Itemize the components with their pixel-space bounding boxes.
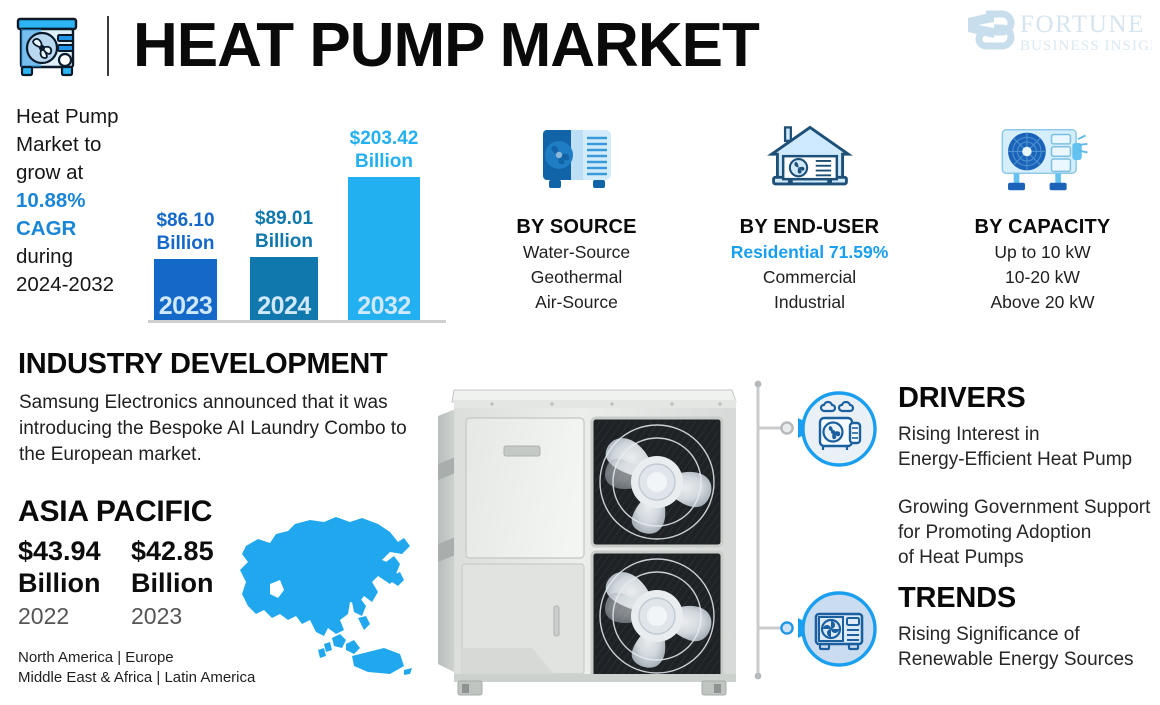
segment-item-air-source: Air-Source — [460, 291, 693, 314]
bar-year-label-2032: 2032 — [348, 292, 420, 321]
cagr-value: 10.88% — [16, 189, 86, 212]
bar-value-label-2032: $203.42 Billion — [334, 127, 434, 177]
bar-2024: $89.01 Billion 2024 — [250, 257, 318, 320]
heat-pump-steam-icon — [800, 390, 878, 468]
ap-unit-2023: Billion — [131, 567, 214, 599]
fortune-business-insights-logo: FORTUNE BUSINESS INSIGHTS — [964, 8, 1152, 60]
industry-development-title: INDUSTRY DEVELOPMENT — [18, 348, 387, 381]
bar-year-label-2024: 2024 — [250, 292, 318, 321]
segment-item-up-to-10kw: Up to 10 kW — [926, 241, 1159, 264]
svg-text:FORTUNE: FORTUNE — [1020, 11, 1145, 38]
segment-title-by-capacity: BY CAPACITY — [926, 216, 1159, 239]
drivers-body-1: Rising Interest in Energy-Efficient Heat… — [898, 422, 1160, 472]
industry-development-body: Samsung Electronics announced that it wa… — [19, 390, 429, 468]
segment-item-water-source: Water-Source — [460, 241, 693, 264]
regions-line-2: Middle East & Africa | Latin America — [18, 668, 255, 688]
forecast-period: 2024-2032 — [16, 273, 114, 296]
segment-by-source: BY SOURCE Water-Source Geothermal Air-So… — [460, 118, 693, 314]
segment-item-industrial: Industrial — [693, 291, 926, 314]
svg-text:BUSINESS INSIGHTS: BUSINESS INSIGHTS — [1020, 38, 1152, 54]
infographic-root: HEAT PUMP MARKET FORTUNE BUSINESS INSIGH… — [0, 0, 1160, 700]
drivers-body-2: Growing Government Support for Promoting… — [898, 495, 1160, 570]
water-source-heat-pump-icon — [460, 118, 693, 202]
ap-amount-2023: $42.85 — [131, 535, 214, 567]
asia-pacific-title: ASIA PACIFIC — [18, 495, 212, 529]
segment-item-residential: Residential 71.59% — [693, 241, 926, 264]
outdoor-condenser-unit-icon — [926, 118, 1159, 202]
ap-year-2022: 2022 — [18, 601, 101, 631]
other-regions-list: North America | Europe Middle East & Afr… — [18, 648, 255, 688]
segment-title-by-source: BY SOURCE — [460, 216, 693, 239]
regions-line-1: North America | Europe — [18, 648, 255, 668]
residential-house-heat-pump-icon — [693, 118, 926, 202]
trends-body-1: Rising Significance of Renewable Energy … — [898, 622, 1160, 672]
blurb-line-1: Heat Pump — [16, 105, 119, 128]
segment-title-by-end-user: BY END-USER — [693, 216, 926, 239]
bar-value-label-2024: $89.01 Billion — [236, 207, 332, 257]
header-divider — [107, 16, 109, 76]
ap-amount-2022: $43.94 — [18, 535, 101, 567]
asia-pacific-figure-2022: $43.94 Billion 2022 — [18, 535, 101, 631]
segment-by-capacity: BY CAPACITY Up to 10 kW 10-20 kW Above 2… — [926, 118, 1159, 314]
bar-year-label-2023: 2023 — [154, 292, 217, 321]
heat-pump-product-photo — [432, 368, 750, 700]
blurb-line-4: during — [16, 245, 73, 268]
bar-2023: $86.10 Billion 2023 — [154, 259, 217, 320]
header: HEAT PUMP MARKET FORTUNE BUSINESS INSIGH… — [0, 0, 1160, 92]
market-growth-blurb: Heat Pump Market to grow at 10.88% CAGR … — [16, 103, 166, 299]
split-ac-unit-icon — [800, 590, 878, 668]
segmentation-row: BY SOURCE Water-Source Geothermal Air-So… — [460, 118, 1160, 333]
segment-item-above-20kw: Above 20 kW — [926, 291, 1159, 314]
bar-value-label-2023: $86.10 Billion — [140, 209, 231, 259]
cagr-label: CAGR — [16, 217, 76, 240]
asia-pacific-figure-2023: $42.85 Billion 2023 — [131, 535, 214, 631]
asia-pacific-map — [232, 498, 414, 676]
blurb-line-2: Market to — [16, 133, 101, 156]
segment-item-10-20kw: 10-20 kW — [926, 266, 1159, 289]
market-size-bar-chart: $86.10 Billion 2023 $89.01 Billion 2024 … — [148, 108, 448, 323]
ap-unit-2022: Billion — [18, 567, 101, 599]
segment-by-end-user: BY END-USER Residential 71.59% Commercia… — [693, 118, 926, 314]
blurb-line-3: grow at — [16, 161, 83, 184]
page-title: HEAT PUMP MARKET — [133, 8, 759, 84]
segment-item-geothermal: Geothermal — [460, 266, 693, 289]
trends-title: TRENDS — [898, 582, 1016, 615]
bar-2032: $203.42 Billion 2032 — [348, 177, 420, 320]
drivers-title: DRIVERS — [898, 382, 1026, 415]
ap-year-2023: 2023 — [131, 601, 214, 631]
segment-item-commercial: Commercial — [693, 266, 926, 289]
heat-pump-unit-icon — [10, 13, 88, 79]
